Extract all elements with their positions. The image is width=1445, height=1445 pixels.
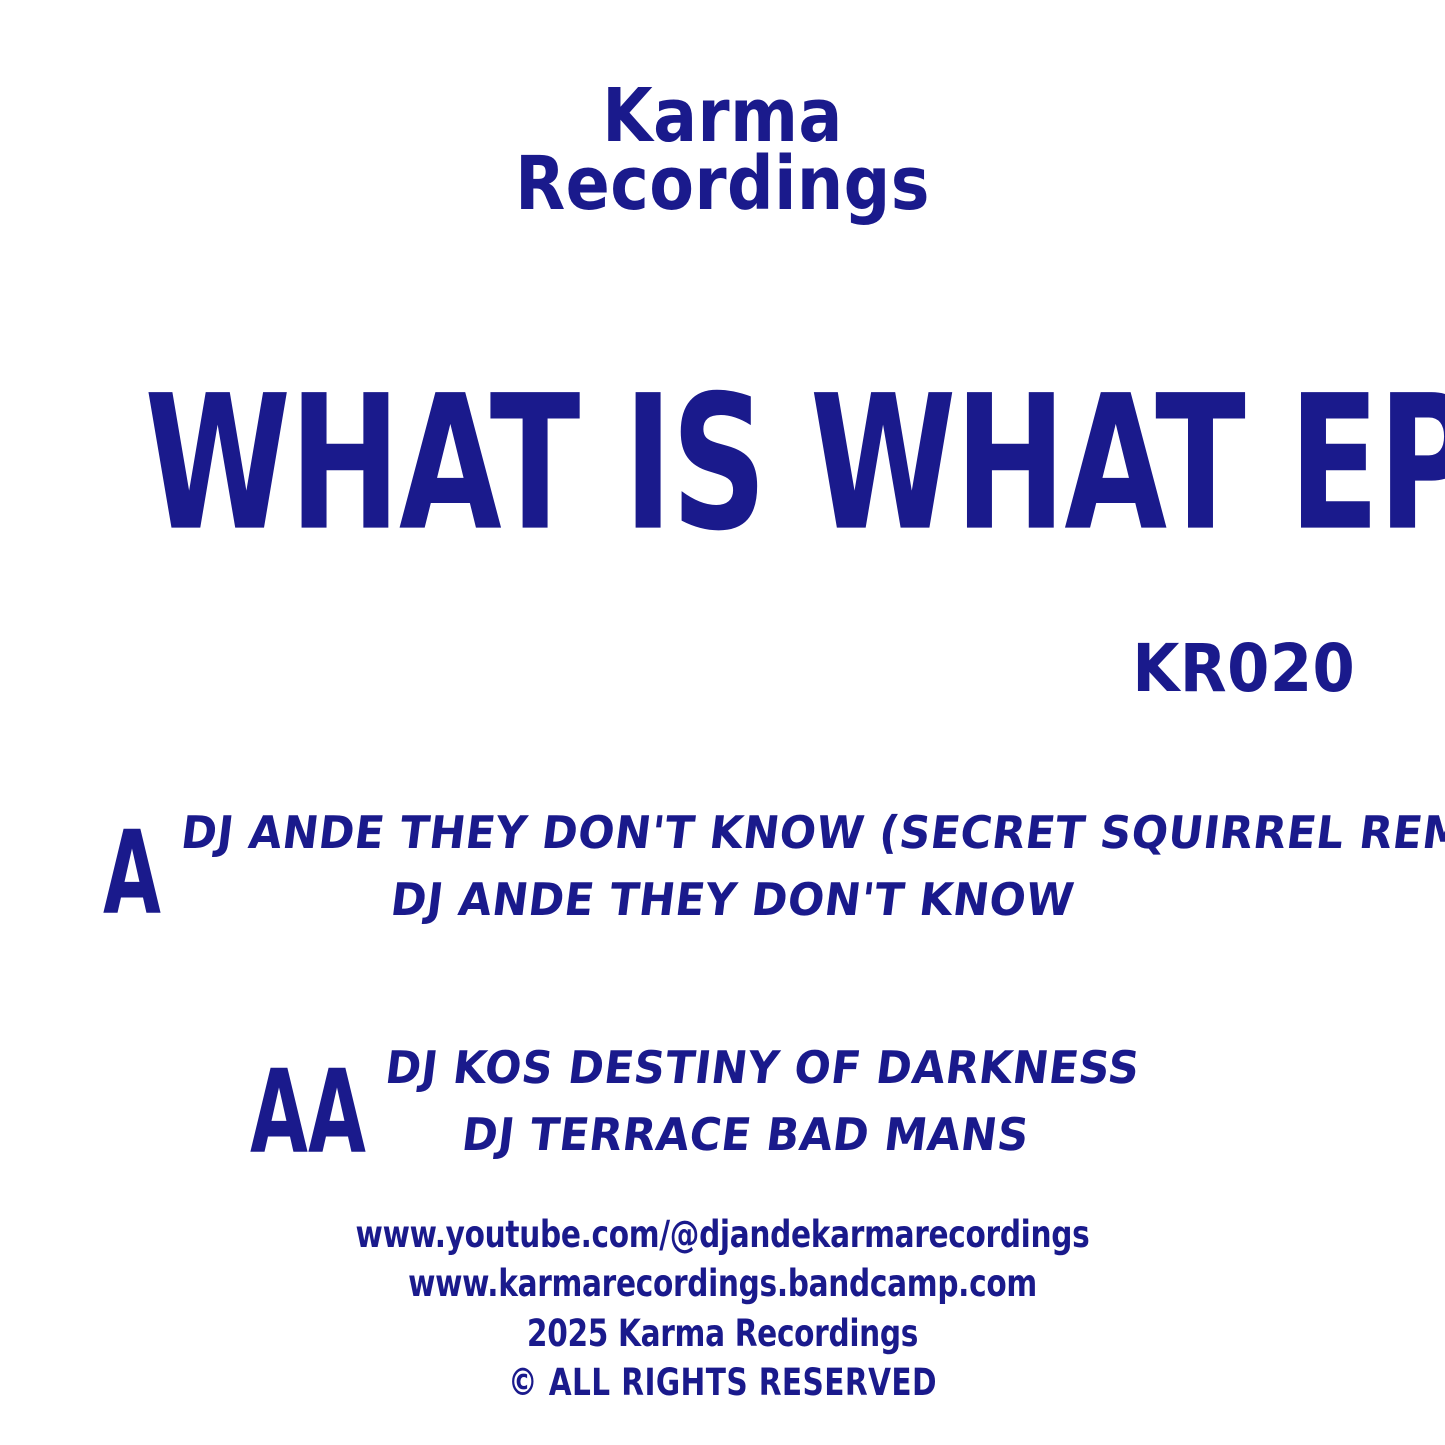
track-item: DJ ANDE THEY DON'T KNOW [175,867,1290,934]
copyright-line: 2025 Karma Recordings [145,1309,1301,1358]
catalogue-number: KR020 [1132,630,1355,707]
imprint-name-line-2: Recordings [87,150,1359,218]
youtube-url[interactable]: www.youtube.com/@djandekarmarecordings [145,1210,1301,1259]
imprint-name: Karma Recordings [0,82,1445,218]
bandcamp-url[interactable]: www.karmarecordings.bandcamp.com [145,1259,1301,1308]
side-aa-tracks: DJ KOS DESTINY OF DARKNESS DJ TERRACE BA… [0,1035,1445,1168]
side-group-a: A DJ ANDE THEY DON'T KNOW (SECRET SQUIRR… [0,800,1445,933]
record-label-artwork: Karma Recordings WHAT IS WHAT EP KR020 A… [0,0,1445,1445]
release-title: WHAT IS WHAT EP [145,372,1301,558]
side-group-aa: AA DJ KOS DESTINY OF DARKNESS DJ TERRACE… [0,1035,1445,1168]
imprint-name-line-1: Karma [87,82,1359,150]
credits-block: www.youtube.com/@djandekarmarecordings w… [0,1210,1445,1407]
track-item: DJ ANDE THEY DON'T KNOW (SECRET SQUIRREL… [177,800,1377,867]
rights-reserved-line: © ALL RIGHTS RESERVED [145,1358,1301,1407]
side-marker-a: A [103,816,161,931]
side-a-tracks: DJ ANDE THEY DON'T KNOW (SECRET SQUIRREL… [0,800,1445,933]
tracklist: A DJ ANDE THEY DON'T KNOW (SECRET SQUIRR… [0,800,1445,1168]
track-item: DJ KOS DESTINY OF DARKNESS [215,1035,1311,1102]
track-item: DJ TERRACE BAD MANS [214,1102,1278,1169]
